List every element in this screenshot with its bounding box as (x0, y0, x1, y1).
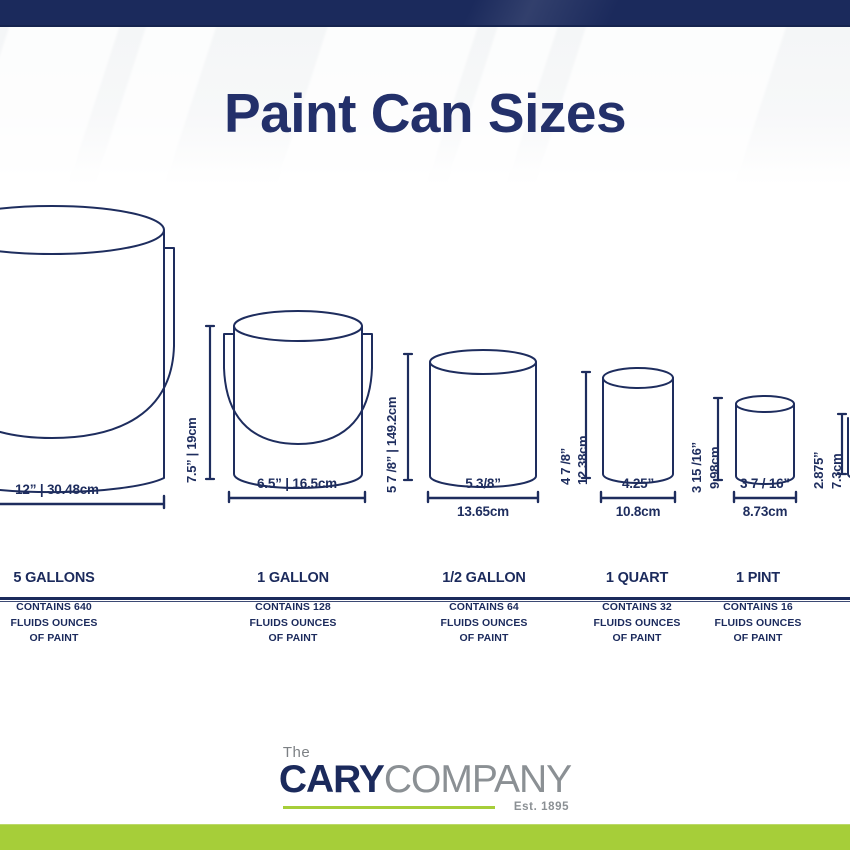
logo-green-bar (283, 806, 495, 809)
bottom-green-band (0, 824, 850, 850)
can-shape-five-gallon (0, 206, 174, 492)
size-desc-line: OF PAINT (0, 631, 152, 647)
size-title-one-pint: 1 PINT (697, 570, 819, 592)
size-title-half-pint: 1/2 (812, 570, 850, 592)
size-desc-line: CONTAINS 32 (565, 600, 709, 616)
dim-line-height-half-gallon (404, 354, 412, 480)
dim-line-width-one-pint (734, 492, 796, 502)
logo-company-text: COMPANY (384, 758, 571, 801)
width-label-one-pint: 3 7 / 16” (723, 476, 807, 491)
size-title-five-gallon: 5 GALLONS (0, 570, 152, 592)
logo-inner: The CARYCOMPANY Est. 1895 (279, 745, 571, 815)
logo-cary-text: CARY (279, 758, 384, 801)
size-desc-line: OF PAINT (205, 631, 381, 647)
dim-line-width-one-quart (601, 492, 675, 502)
info-column-half-pint: 1/2 CO FLUID OF (812, 570, 850, 647)
can-shape-one-quart (603, 368, 673, 483)
company-logo[interactable]: The CARYCOMPANY Est. 1895 (0, 745, 850, 815)
size-desc-line: FLUIDS OUNCES (697, 616, 819, 632)
size-desc-line: CONTAINS 128 (205, 600, 381, 616)
dim-line-height-one-gallon (206, 326, 214, 479)
info-column-one-quart: 1 QUART CONTAINS 32 FLUIDS OUNCES OF PAI… (565, 570, 709, 647)
size-desc-one-quart: CONTAINS 32 FLUIDS OUNCES OF PAINT (565, 592, 709, 647)
size-desc-line: CONTAINS 640 (0, 600, 152, 616)
size-desc-line: CO (812, 600, 850, 616)
size-info-row: 5 GALLONS CONTAINS 640 FLUIDS OUNCES OF … (0, 570, 850, 665)
dim-line-width-half-gallon (428, 492, 538, 502)
size-desc-line: OF PAINT (697, 631, 819, 647)
size-desc-half-gallon: CONTAINS 64 FLUIDS OUNCES OF PAINT (401, 592, 567, 647)
size-title-one-gallon: 1 GALLON (205, 570, 381, 592)
size-desc-line: CONTAINS 16 (697, 600, 819, 616)
width-label-metric-half-gallon: 13.65cm (428, 504, 538, 519)
size-desc-line: FLUID (812, 616, 850, 632)
info-column-half-gallon: 1/2 GALLON CONTAINS 64 FLUIDS OUNCES OF … (401, 570, 567, 647)
dim-line-width-one-gallon (229, 492, 365, 502)
can-shape-half-gallon (430, 350, 536, 487)
logo-wordmark: CARYCOMPANY (279, 760, 571, 800)
info-column-one-gallon: 1 GALLON CONTAINS 128 FLUIDS OUNCES OF P… (205, 570, 381, 647)
dim-line-width-five-gallon (0, 496, 164, 508)
page-title: Paint Can Sizes (0, 81, 850, 145)
size-desc-line: FLUIDS OUNCES (0, 616, 152, 632)
can-illustration-area: 7.5” | 19cm 5 7 /8” | 149.2cm 4 7 /8” 12… (0, 186, 850, 561)
size-desc-half-pint: CO FLUID OF (812, 592, 850, 647)
width-label-half-gallon: 5 3/8” (428, 476, 538, 491)
size-desc-line: OF (812, 631, 850, 647)
height-label-one-gallon: 7.5” | 19cm (184, 418, 199, 483)
height-label-half-pint: 2.875” (811, 452, 826, 489)
logo-est-text: Est. 1895 (514, 801, 569, 813)
size-desc-line: CONTAINS 64 (401, 600, 567, 616)
size-desc-five-gallon: CONTAINS 640 FLUIDS OUNCES OF PAINT (0, 592, 152, 647)
width-label-one-gallon: 6.5” | 16.5cm (229, 476, 365, 491)
info-column-one-pint: 1 PINT CONTAINS 16 FLUIDS OUNCES OF PAIN… (697, 570, 819, 647)
height-label-metric-one-quart: 12.38cm (575, 436, 590, 485)
width-label-metric-one-quart: 10.8cm (601, 504, 675, 519)
width-label-one-quart: 4.25” (601, 476, 675, 491)
size-desc-line: FLUIDS OUNCES (205, 616, 381, 632)
height-label-metric-half-pint: 7.3cm (829, 454, 844, 489)
height-label-one-quart: 4 7 /8” (558, 448, 573, 485)
size-desc-line: FLUIDS OUNCES (401, 616, 567, 632)
can-shape-one-pint (736, 396, 794, 484)
width-label-metric-one-pint: 8.73cm (723, 504, 807, 519)
size-desc-one-gallon: CONTAINS 128 FLUIDS OUNCES OF PAINT (205, 592, 381, 647)
height-label-half-gallon: 5 7 /8” | 149.2cm (384, 397, 399, 493)
logo-bottom-row: Est. 1895 (279, 801, 571, 815)
size-desc-line: FLUIDS OUNCES (565, 616, 709, 632)
size-desc-line: OF PAINT (401, 631, 567, 647)
size-title-half-gallon: 1/2 GALLON (401, 570, 567, 592)
can-shape-one-gallon (224, 311, 372, 488)
header-banner: Paint Can Sizes (0, 27, 850, 185)
height-label-one-pint: 3 15 /16” (689, 442, 704, 493)
info-column-five-gallon: 5 GALLONS CONTAINS 640 FLUIDS OUNCES OF … (0, 570, 152, 647)
size-desc-line: OF PAINT (565, 631, 709, 647)
size-desc-one-pint: CONTAINS 16 FLUIDS OUNCES OF PAINT (697, 592, 819, 647)
top-navy-band (0, 0, 850, 27)
width-label-five-gallon: 12” | 30.48cm (0, 482, 164, 497)
infographic-page: Paint Can Sizes (0, 0, 850, 850)
height-label-metric-one-pint: 9.98cm (707, 447, 722, 489)
size-title-one-quart: 1 QUART (565, 570, 709, 592)
